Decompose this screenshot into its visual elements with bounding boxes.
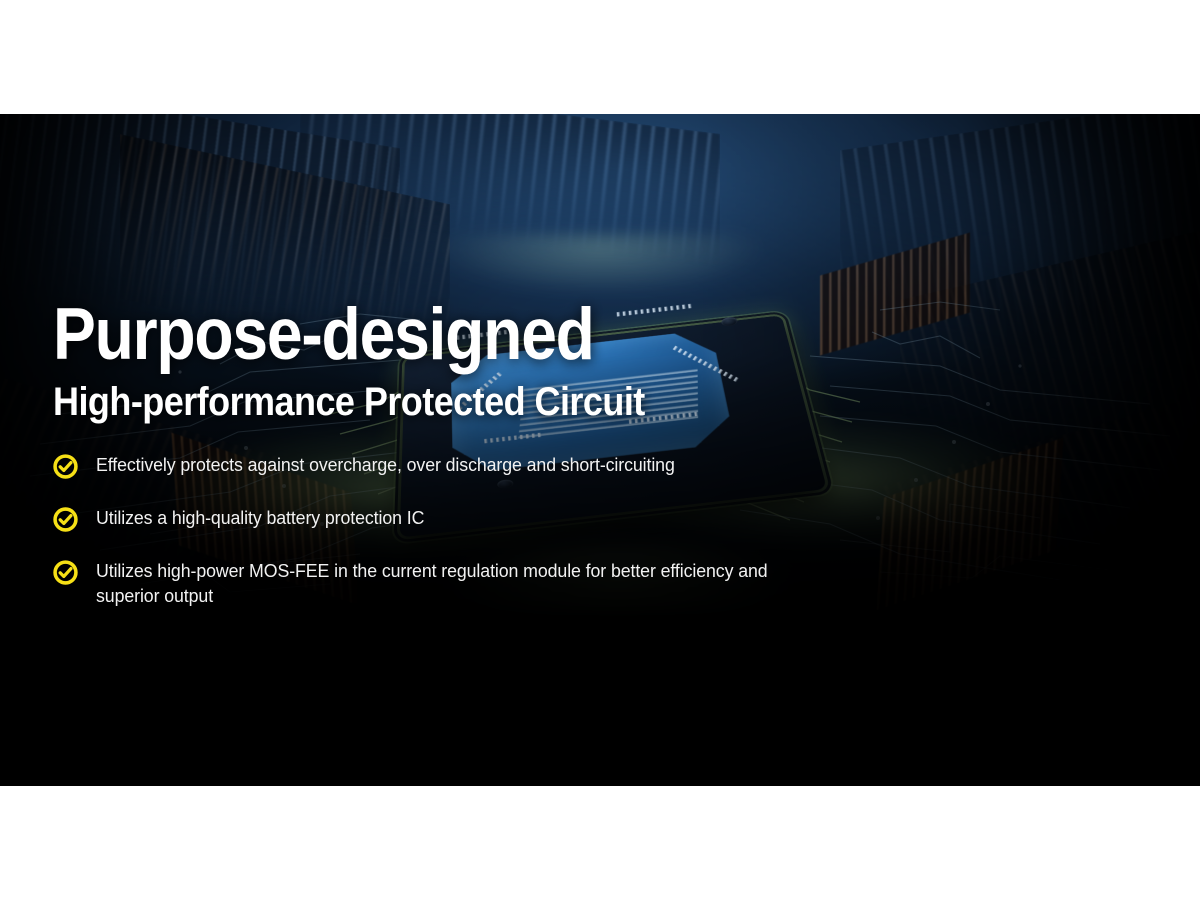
check-circle-icon xyxy=(53,454,78,479)
feature-text: Effectively protects against overcharge,… xyxy=(96,452,675,477)
feature-text: Utilizes a high-quality battery protecti… xyxy=(96,505,424,530)
feature-list: Effectively protects against overcharge,… xyxy=(53,452,953,608)
page-root: Purpose-designed High-performance Protec… xyxy=(0,0,1200,900)
hero-banner: Purpose-designed High-performance Protec… xyxy=(0,114,1200,786)
feature-text: Utilizes high-power MOS-FEE in the curre… xyxy=(96,558,826,608)
list-item: Effectively protects against overcharge,… xyxy=(53,452,953,479)
check-circle-icon xyxy=(53,560,78,585)
list-item: Utilizes a high-quality battery protecti… xyxy=(53,505,953,532)
check-circle-icon xyxy=(53,507,78,532)
page-title: Purpose-designed xyxy=(53,296,845,374)
hero-content: Purpose-designed High-performance Protec… xyxy=(53,296,953,608)
list-item: Utilizes high-power MOS-FEE in the curre… xyxy=(53,558,953,608)
page-subtitle: High-performance Protected Circuit xyxy=(53,380,863,424)
